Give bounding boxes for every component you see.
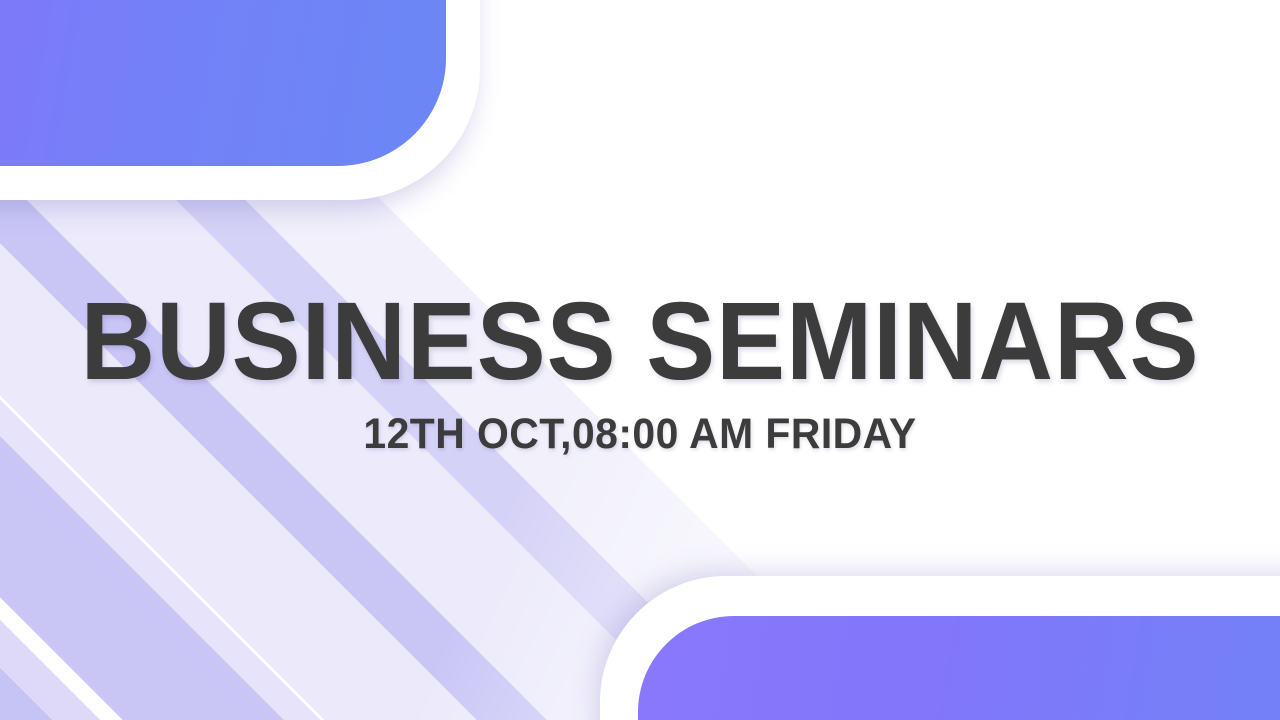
top-left-gradient-shape	[0, 0, 446, 166]
poster-text-block: BUSINESS SEMINARS 12TH OCT,08:00 AM FRID…	[0, 287, 1280, 456]
bottom-right-gradient-shape	[638, 616, 1280, 720]
poster-canvas: BUSINESS SEMINARS 12TH OCT,08:00 AM FRID…	[0, 0, 1280, 720]
poster-title: BUSINESS SEMINARS	[38, 287, 1241, 397]
poster-subtitle: 12TH OCT,08:00 AM FRIDAY	[32, 413, 1248, 456]
